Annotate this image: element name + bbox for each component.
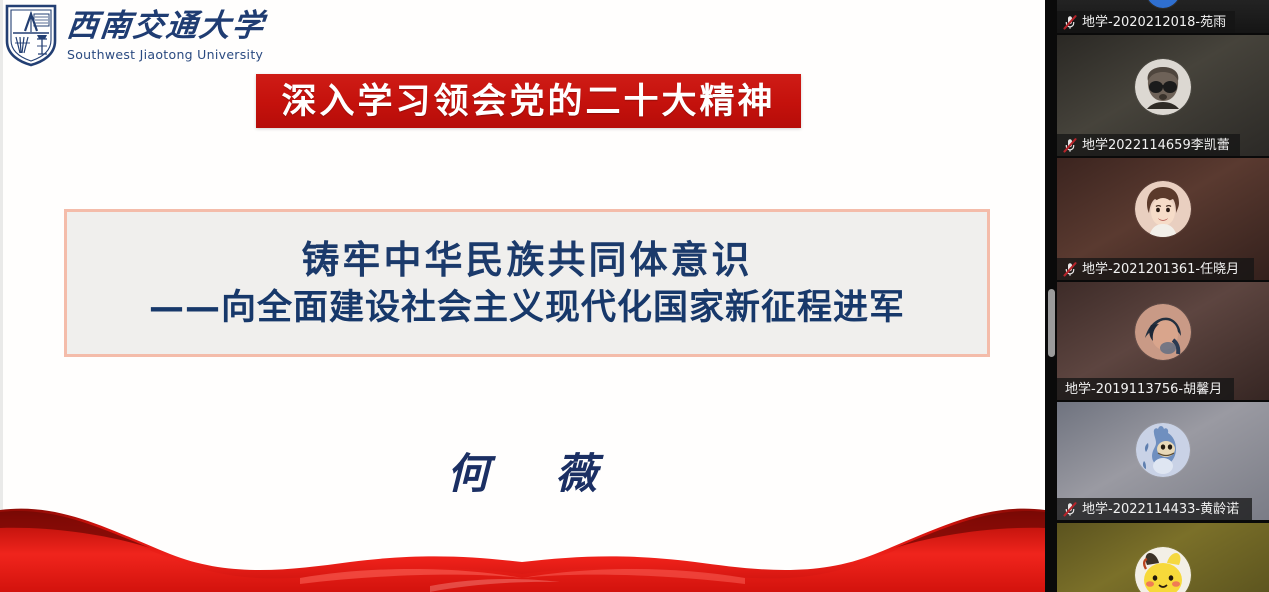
participant-name-bar: 地学-2021201361-任晓月 [1057, 258, 1254, 280]
video-conference-window: 西南交通大学 Southwest Jiaotong University 深入学… [0, 0, 1269, 592]
mic-muted-icon [1063, 502, 1077, 517]
mic-muted-icon [1063, 138, 1077, 153]
participant-name: 地学-2020212018-苑雨 [1082, 16, 1226, 29]
participant-tile[interactable]: 地学-2020212018-苑雨 [1057, 0, 1269, 33]
avatar [1135, 59, 1191, 115]
participant-tile[interactable]: 地学-2022114433-黄龄诺 [1057, 402, 1269, 520]
shared-screen-slide[interactable]: 西南交通大学 Southwest Jiaotong University 深入学… [0, 0, 1045, 592]
participant-tile[interactable]: 地学-2021201361-任晓月 [1057, 158, 1269, 280]
participant-name-bar: 地学-2020212018-苑雨 [1057, 11, 1235, 33]
mic-muted-icon [1063, 262, 1077, 277]
participant-name: 地学-2022114433-黄龄诺 [1082, 503, 1239, 516]
participant-name: 地学-2019113756-胡馨月 [1063, 383, 1222, 396]
participant-tile[interactable] [1057, 523, 1269, 592]
avatar [1136, 423, 1190, 477]
slide-canvas: 西南交通大学 Southwest Jiaotong University 深入学… [0, 0, 1045, 592]
slide-banner-text: 深入学习领会党的二十大精神 [281, 84, 775, 119]
university-crest-icon [4, 3, 58, 67]
mic-muted-icon [1063, 15, 1077, 30]
slide-content-box: 铸牢中华民族共同体意识 ——向全面建设社会主义现代化国家新征程进军 [64, 209, 990, 357]
university-logo: 西南交通大学 Southwest Jiaotong University [4, 3, 265, 67]
red-silk-wave-decoration [0, 482, 1045, 592]
participant-name-bar: 地学-2022114433-黄龄诺 [1057, 498, 1252, 520]
participant-strip[interactable]: 地学-2020212018-苑雨 [1045, 0, 1269, 592]
logo-chinese-name: 西南交通大学 [65, 10, 266, 43]
participant-name-bar: 地学2022114659李凯蕾 [1057, 134, 1240, 156]
participant-scrollbar-thumb[interactable] [1048, 289, 1055, 357]
participant-name-bar: 地学-2019113756-胡馨月 [1057, 378, 1234, 400]
avatar [1135, 181, 1191, 237]
participant-tile[interactable]: 地学2022114659李凯蕾 [1057, 35, 1269, 156]
logo-english-name: Southwest Jiaotong University [67, 47, 265, 62]
avatar [1135, 304, 1191, 360]
slide-subtitle: ——向全面建设社会主义现代化国家新征程进军 [149, 290, 905, 327]
participant-name: 地学2022114659李凯蕾 [1082, 139, 1230, 152]
participant-name: 地学-2021201361-任晓月 [1082, 263, 1239, 276]
slide-banner: 深入学习领会党的二十大精神 [256, 74, 801, 128]
participant-tile[interactable]: 地学-2019113756-胡馨月 [1057, 282, 1269, 400]
slide-main-title: 铸牢中华民族共同体意识 [301, 240, 752, 280]
